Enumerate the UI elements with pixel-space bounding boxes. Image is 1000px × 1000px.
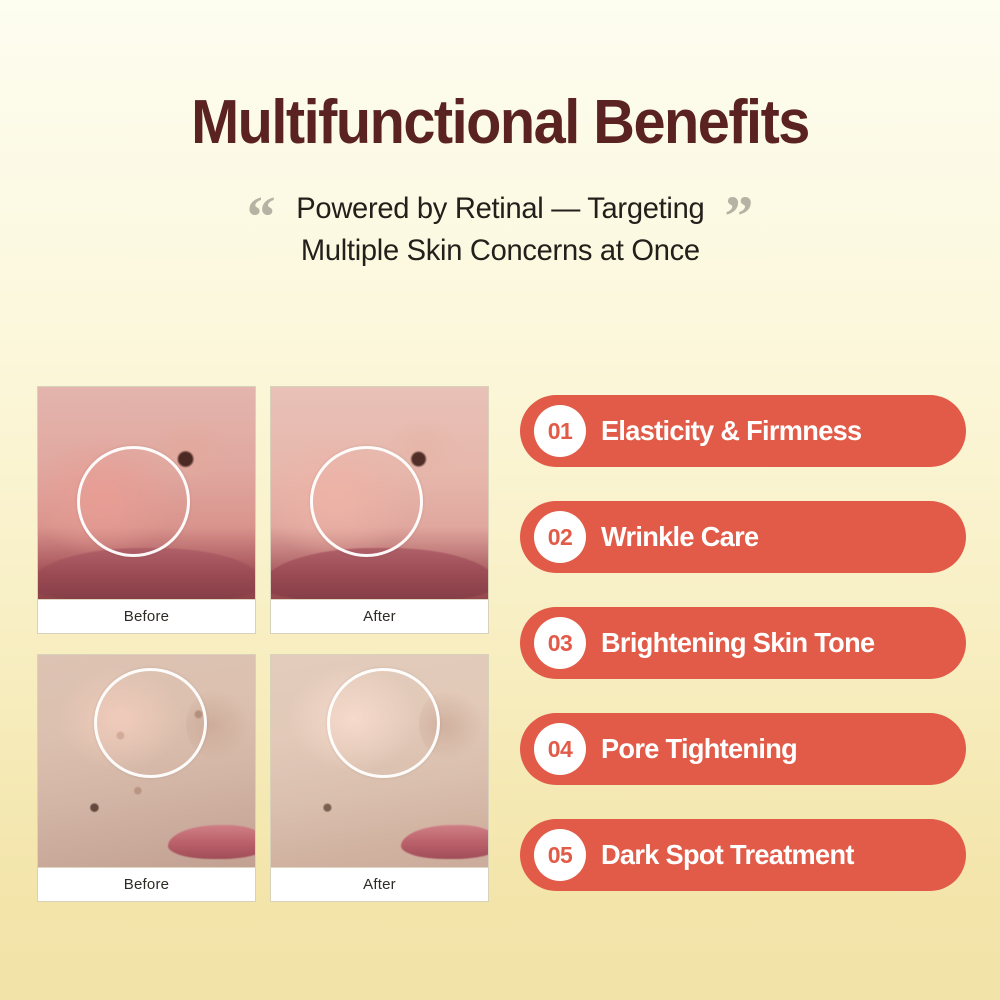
- benefit-item-02[interactable]: 02 Wrinkle Care: [520, 501, 966, 573]
- photo-image-after-2: [271, 655, 488, 867]
- quote-open-icon: “: [247, 192, 276, 242]
- subtitle-text: Powered by Retinal — Targeting Multiple …: [296, 188, 704, 272]
- benefit-number-badge: 05: [534, 829, 586, 881]
- highlight-circle-icon: [94, 668, 207, 778]
- photo-card-after-2: After: [270, 654, 489, 902]
- benefit-number-badge: 01: [534, 405, 586, 457]
- lip-shape: [271, 548, 488, 599]
- photo-card-after-1: After: [270, 386, 489, 634]
- photo-card-before-2: Before: [37, 654, 256, 902]
- photo-card-before-1: Before: [37, 386, 256, 634]
- benefit-label: Dark Spot Treatment: [601, 839, 854, 871]
- main-content: Before After Before: [0, 386, 1000, 902]
- benefit-item-01[interactable]: 01 Elasticity & Firmness: [520, 395, 966, 467]
- photo-caption: Before: [38, 599, 255, 633]
- photo-caption: After: [271, 599, 488, 633]
- highlight-circle-icon: [327, 668, 440, 778]
- benefit-item-05[interactable]: 05 Dark Spot Treatment: [520, 819, 966, 891]
- benefits-list: 01 Elasticity & Firmness 02 Wrinkle Care…: [520, 386, 966, 891]
- benefit-label: Pore Tightening: [601, 733, 797, 765]
- photo-image-before-2: [38, 655, 255, 867]
- benefit-label: Brightening Skin Tone: [601, 627, 874, 659]
- benefit-number-badge: 04: [534, 723, 586, 775]
- benefit-label: Elasticity & Firmness: [601, 415, 861, 447]
- benefit-number-badge: 03: [534, 617, 586, 669]
- benefit-item-03[interactable]: 03 Brightening Skin Tone: [520, 607, 966, 679]
- benefit-label: Wrinkle Care: [601, 521, 758, 553]
- header: Multifunctional Benefits “ Powered by Re…: [0, 0, 1000, 272]
- benefit-item-04[interactable]: 04 Pore Tightening: [520, 713, 966, 785]
- lip-shape: [38, 548, 255, 599]
- photo-image-after-1: [271, 387, 488, 599]
- photo-caption: After: [271, 867, 488, 901]
- before-after-photo-grid: Before After Before: [37, 386, 489, 902]
- benefit-number-badge: 02: [534, 511, 586, 563]
- photo-image-before-1: [38, 387, 255, 599]
- photo-caption: Before: [38, 867, 255, 901]
- page-title: Multifunctional Benefits: [35, 92, 965, 154]
- subtitle-block: “ Powered by Retinal — Targeting Multipl…: [0, 188, 1000, 272]
- highlight-circle-icon: [310, 446, 423, 556]
- quote-close-icon: ”: [724, 192, 753, 242]
- highlight-circle-icon: [77, 446, 190, 556]
